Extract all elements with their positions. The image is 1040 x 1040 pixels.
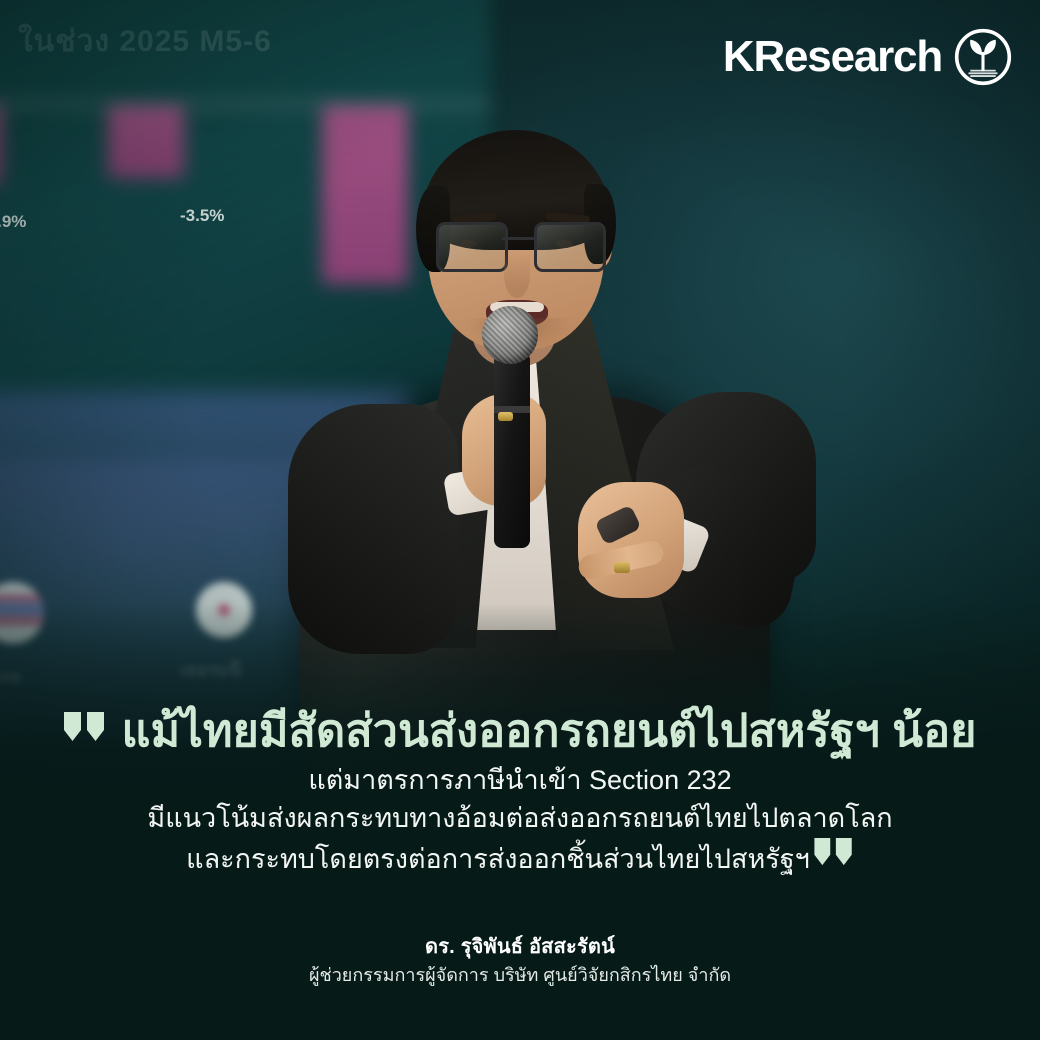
microphone-icon [482,306,538,364]
sprout-seedling-icon [954,28,1012,86]
hand-gesturing [578,482,684,598]
quote-line-2: แต่มาตรการภาษีนำเข้า Section 232 [0,761,1040,799]
quote-body: แต่มาตรการภาษีนำเข้า Section 232 มีแนวโน… [0,761,1040,878]
wedding-ring [498,412,513,421]
speaker-photo [0,0,1040,1040]
quote-line-4-wrap: และกระทบโดยตรงต่อการส่งออกชิ้นส่วนไทยไปส… [186,838,854,878]
open-quote-icon [64,712,106,742]
headline-row: แม้ไทยมีสัดส่วนส่งออกรถยนต์ไปสหรัฐฯ น้อย [0,704,1040,757]
quote-line-3: มีแนวโน้มส่งผลกระทบทางอ้อมต่อส่งออกรถยนต… [0,799,1040,837]
quote-line-4: และกระทบโดยตรงต่อการส่งออกชิ้นส่วนไทยไปส… [186,840,810,878]
quote-block: แม้ไทยมีสัดส่วนส่งออกรถยนต์ไปสหรัฐฯ น้อย… [0,704,1040,878]
lens-left [436,222,508,272]
kresearch-logo[interactable]: KResearch [723,28,1012,86]
quote-card: ในช่วง 2025 M5-6 -4.9% -3.5% ไทย เยอรมนี [0,0,1040,1040]
close-quote-icon [814,838,854,876]
gold-ring [614,562,630,573]
lens-right [534,222,606,272]
quote-headline: แม้ไทยมีสัดส่วนส่งออกรถยนต์ไปสหรัฐฯ น้อย [122,704,977,757]
suit-shoulder-right [288,404,458,654]
glasses-bridge [502,237,534,240]
speaker-name: ดร. รุจิพันธ์ อัสสะรัตน์ [0,932,1040,962]
nose [504,252,530,298]
speaker-title: ผู้ช่วยกรรมการผู้จัดการ บริษัท ศูนย์วิจั… [0,962,1040,989]
attribution: ดร. รุจิพันธ์ อัสสะรัตน์ ผู้ช่วยกรรมการผ… [0,932,1040,989]
logo-wordmark: KResearch [723,35,942,79]
microphone-body [494,352,530,548]
